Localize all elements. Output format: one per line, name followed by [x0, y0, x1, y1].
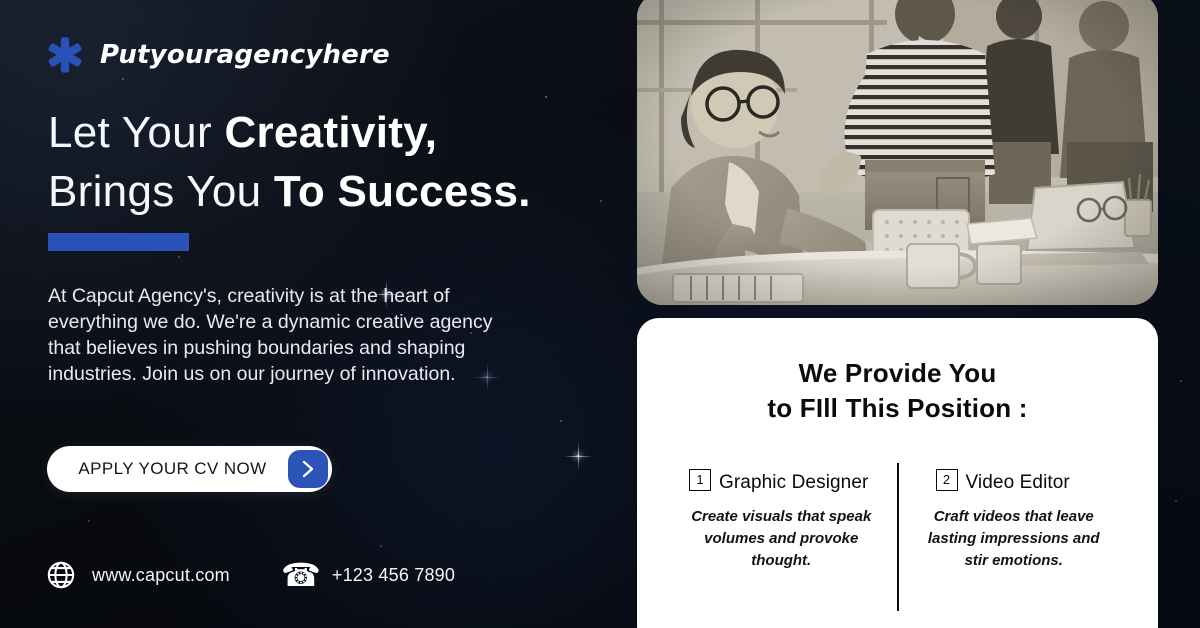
poster-canvas: Putyouragencyhere Let Your Creativity, B… [0, 0, 1200, 628]
position-2-title: Video Editor [966, 472, 1070, 494]
position-2-heading: 2 Video Editor [912, 469, 1117, 494]
accent-divider-bar [48, 233, 189, 251]
positions-title-line-2: to FIll This Position : [665, 391, 1130, 426]
telephone-icon: ☎ [284, 558, 318, 592]
headline-line-1-light: Let Your [48, 108, 224, 157]
apply-cv-button[interactable]: APPLY YOUR CV NOW [47, 446, 332, 492]
headline-line-2-light: Brings You [48, 167, 274, 216]
position-1-title: Graphic Designer [719, 472, 868, 494]
team-photo-card [637, 0, 1158, 305]
position-2-description: Craft videos that leave lasting impressi… [912, 506, 1117, 573]
contact-phone[interactable]: ☎ +123 456 7890 [284, 558, 455, 592]
body-paragraph: At Capcut Agency's, creativity is at the… [48, 284, 498, 388]
positions-card: We Provide You to FIll This Position : 1… [637, 318, 1158, 628]
brand-lockup[interactable]: Putyouragencyhere [46, 36, 390, 74]
positions-card-title: We Provide You to FIll This Position : [665, 356, 1130, 427]
position-1-heading: 1 Graphic Designer [679, 469, 884, 494]
asterisk-star-icon [46, 36, 84, 74]
apply-cv-button-label: APPLY YOUR CV NOW [47, 459, 288, 479]
headline-line-2: Brings You To Success. [48, 163, 608, 222]
headline-line-1: Let Your Creativity, [48, 104, 608, 163]
brand-name: Putyouragencyhere [100, 40, 390, 70]
position-2-number: 2 [936, 469, 958, 491]
contact-website[interactable]: www.capcut.com [44, 558, 230, 592]
positions-list: 1 Graphic Designer Create visuals that s… [665, 469, 1130, 573]
position-item-1[interactable]: 1 Graphic Designer Create visuals that s… [665, 469, 898, 573]
headline-line-2-strong: To Success. [274, 167, 531, 216]
page-title: Let Your Creativity, Brings You To Succe… [48, 104, 608, 221]
office-team-collaboration-photo [637, 0, 1158, 305]
globe-icon [44, 558, 78, 592]
positions-divider [897, 463, 899, 611]
contact-bar: www.capcut.com ☎ +123 456 7890 [44, 558, 455, 592]
website-text: www.capcut.com [92, 565, 230, 586]
positions-title-line-1: We Provide You [665, 356, 1130, 391]
position-1-number: 1 [689, 469, 711, 491]
headline-line-1-strong: Creativity, [224, 108, 437, 157]
position-item-2[interactable]: 2 Video Editor Craft videos that leave l… [898, 469, 1131, 573]
phone-text: +123 456 7890 [332, 565, 455, 586]
position-1-description: Create visuals that speak volumes and pr… [679, 506, 884, 573]
chevron-right-icon[interactable] [288, 450, 328, 488]
